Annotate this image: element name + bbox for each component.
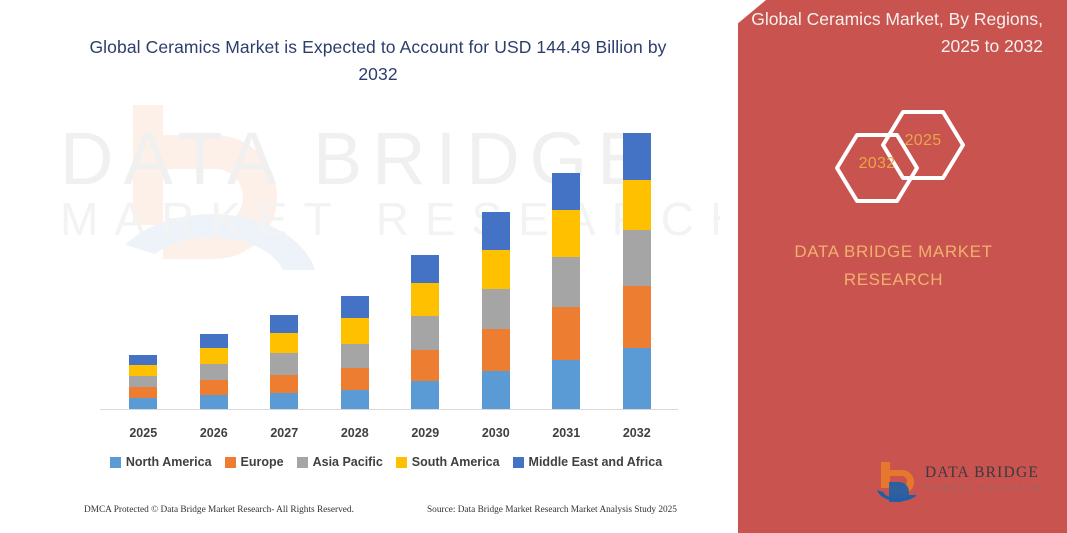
x-axis-label: 2026 — [184, 426, 244, 440]
x-axis-labels: 20252026202720282029203020312032 — [86, 418, 686, 440]
legend-item[interactable]: Asia Pacific — [297, 455, 383, 469]
bar-stack — [341, 296, 369, 409]
bar-segment-middle-east-and-africa — [552, 173, 580, 211]
bar-segment-south-america — [270, 333, 298, 353]
bar-segment-asia-pacific — [341, 344, 369, 368]
bar-segment-north-america — [270, 393, 298, 409]
bar-segment-europe — [552, 307, 580, 360]
hexagon-group: 2025 2032 — [720, 92, 1067, 212]
bar-segment-asia-pacific — [552, 257, 580, 307]
page-title: Global Ceramics Market is Expected to Ac… — [78, 34, 678, 88]
legend-item[interactable]: Europe — [225, 455, 284, 469]
bar-segment-middle-east-and-africa — [341, 296, 369, 318]
bar-segment-europe — [623, 286, 651, 349]
bar-segment-europe — [200, 380, 228, 395]
bar-segment-south-america — [341, 318, 369, 343]
bar-segment-europe — [411, 350, 439, 381]
bar-segment-asia-pacific — [482, 289, 510, 329]
legend-label: Europe — [241, 455, 284, 469]
bar-segment-south-america — [552, 210, 580, 256]
chart-panel: DATA BRIDGE MARKET RESEARCH Global Ceram… — [0, 0, 760, 533]
panel-title: Global Ceramics Market, By Regions, 2025… — [748, 6, 1043, 60]
bar-segment-north-america — [482, 371, 510, 409]
bar-segment-middle-east-and-africa — [270, 315, 298, 333]
bar-segment-north-america — [623, 348, 651, 409]
legend-item[interactable]: North America — [110, 455, 212, 469]
x-axis-line — [100, 409, 678, 410]
logo-mark-icon — [875, 460, 923, 504]
bar-segment-europe — [129, 387, 157, 398]
bar-segment-asia-pacific — [411, 316, 439, 349]
bar-segment-middle-east-and-africa — [623, 133, 651, 180]
bar-segment-north-america — [200, 395, 228, 409]
bar-segment-north-america — [411, 381, 439, 409]
bar-chart — [86, 110, 686, 410]
bar-stack — [482, 212, 510, 409]
bar-segment-middle-east-and-africa — [482, 212, 510, 250]
bar-segment-south-america — [411, 283, 439, 316]
legend-swatch-icon — [513, 457, 524, 468]
bar-segment-europe — [270, 375, 298, 393]
bar-stack — [552, 173, 580, 409]
bar-segment-south-america — [623, 180, 651, 231]
legend-item[interactable]: Middle East and Africa — [513, 455, 663, 469]
legend-label: South America — [412, 455, 500, 469]
brand-line-2: RESEARCH — [720, 266, 1067, 294]
bar-stack — [270, 315, 298, 409]
x-axis-label: 2028 — [325, 426, 385, 440]
x-axis-label: 2027 — [254, 426, 314, 440]
hexagon-shapes — [720, 92, 1067, 212]
infographic-root: DATA BRIDGE MARKET RESEARCH Global Ceram… — [0, 0, 1067, 533]
bar-segment-asia-pacific — [270, 353, 298, 374]
bar-segment-europe — [341, 368, 369, 390]
brand-wordmark: DATA BRIDGE MARKET RESEARCH — [720, 238, 1067, 294]
bar-segment-north-america — [552, 360, 580, 409]
legend-label: Middle East and Africa — [529, 455, 663, 469]
hexagon-label-2025: 2025 — [903, 132, 943, 150]
bar-segment-north-america — [129, 398, 157, 409]
logo-subtitle: MARKET RESEARCH — [925, 484, 1043, 492]
plot-area — [86, 110, 686, 410]
footer: DMCA Protected © Data Bridge Market Rese… — [0, 505, 760, 529]
legend-label: North America — [126, 455, 212, 469]
legend-label: Asia Pacific — [313, 455, 383, 469]
bar-segment-north-america — [341, 390, 369, 409]
bar-segment-middle-east-and-africa — [200, 334, 228, 348]
bar-segment-asia-pacific — [623, 230, 651, 286]
bar-stack — [411, 255, 439, 409]
x-axis-label: 2029 — [395, 426, 455, 440]
chart-legend: North AmericaEuropeAsia PacificSouth Ame… — [86, 455, 686, 469]
bar-stack — [623, 133, 651, 409]
x-axis-label: 2032 — [607, 426, 667, 440]
bar-segment-middle-east-and-africa — [411, 255, 439, 283]
bar-segment-middle-east-and-africa — [129, 355, 157, 365]
brand-line-1: DATA BRIDGE MARKET — [794, 242, 992, 261]
bar-segment-europe — [482, 329, 510, 370]
bar-segment-south-america — [482, 250, 510, 288]
bar-segment-south-america — [129, 365, 157, 376]
x-axis-label: 2030 — [466, 426, 526, 440]
legend-swatch-icon — [297, 457, 308, 468]
brand-panel: Global Ceramics Market, By Regions, 2025… — [720, 0, 1067, 533]
x-axis-label: 2025 — [113, 426, 173, 440]
bar-segment-south-america — [200, 348, 228, 364]
company-logo: DATA BRIDGE MARKET RESEARCH — [875, 458, 1045, 506]
bar-stack — [200, 334, 228, 409]
bar-segment-asia-pacific — [200, 364, 228, 380]
bar-segment-asia-pacific — [129, 376, 157, 387]
legend-swatch-icon — [225, 457, 236, 468]
footer-copyright: DMCA Protected © Data Bridge Market Rese… — [84, 505, 354, 515]
logo-title: DATA BRIDGE — [925, 464, 1043, 482]
logo-text-block: DATA BRIDGE MARKET RESEARCH — [925, 464, 1043, 492]
footer-source: Source: Data Bridge Market Research Mark… — [427, 505, 677, 515]
legend-item[interactable]: South America — [396, 455, 500, 469]
hexagon-label-2032: 2032 — [857, 155, 897, 173]
legend-swatch-icon — [396, 457, 407, 468]
bar-stack — [129, 355, 157, 409]
x-axis-label: 2031 — [536, 426, 596, 440]
legend-swatch-icon — [110, 457, 121, 468]
